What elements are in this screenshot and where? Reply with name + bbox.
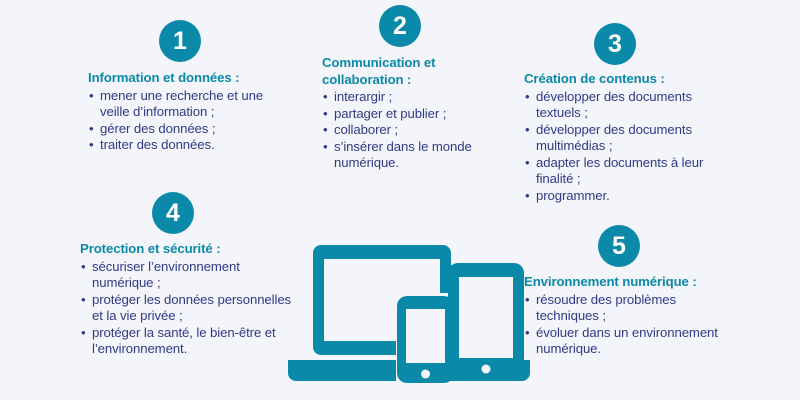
section-list-4: • sécuriser l’environnement numérique ; … [80,259,292,358]
list-item-label: sécuriser l’environnement numérique ; [92,259,240,291]
list-item-label: protéger les données personnelles et la … [92,292,291,324]
bullet-icon: • [525,155,530,172]
list-item-label: gérer des données ; [100,121,215,136]
tablet-icon [448,263,524,381]
list-item: • interargir ; [322,89,482,106]
list-item: • programmer. [524,188,729,205]
list-item: • gérer des données ; [88,121,268,138]
list-item-label: programmer. [536,188,610,203]
bullet-icon: • [323,139,328,156]
bullet-icon: • [81,292,86,309]
section-heading-2: Communication et collaboration : [322,55,482,88]
section-block-2: Communication et collaboration : • inter… [322,55,482,172]
section-badge-2: 2 [379,5,421,47]
digital-competences-infographic: 1 Information et données : • mener une r… [0,0,800,400]
section-block-1: Information et données : • mener une rec… [88,70,268,154]
list-item: • protéger la santé, le bien-être et l’e… [80,325,292,358]
section-heading-1: Information et données : [88,70,268,87]
bullet-icon: • [89,137,94,154]
list-item-label: développer des documents multimédias ; [536,122,692,154]
section-list-3: • développer des documents textuels ; • … [524,89,729,205]
list-item-label: s’insérer dans le monde numérique. [334,139,472,171]
section-badge-1: 1 [159,20,201,62]
bullet-icon: • [81,259,86,276]
list-item-label: développer des documents textuels ; [536,89,692,121]
section-block-3: Création de contenus : • développer des … [524,71,729,204]
list-item: • évoluer dans un environnement numériqu… [524,325,724,358]
list-item: • sécuriser l’environnement numérique ; [80,259,292,292]
list-item-label: adapter les documents à leur finalité ; [536,155,703,187]
section-heading-5: Environnement numérique : [524,274,724,291]
bullet-icon: • [89,121,94,138]
list-item: • résoudre des problèmes techniques ; [524,292,724,325]
list-item: • s’insérer dans le monde numérique. [322,139,482,172]
list-item: • adapter les documents à leur finalité … [524,155,729,188]
list-item-label: collaborer ; [334,122,398,137]
section-list-5: • résoudre des problèmes techniques ; • … [524,292,724,358]
list-item-label: protéger la santé, le bien-être et l’env… [92,325,276,357]
list-item-label: résoudre des problèmes techniques ; [536,292,676,324]
list-item-label: interargir ; [334,89,392,104]
section-block-5: Environnement numérique : • résoudre des… [524,274,724,358]
list-item-label: partager et publier ; [334,106,446,121]
bullet-icon: • [525,188,530,205]
list-item: • développer des documents multimédias ; [524,122,729,155]
devices-svg [280,238,530,390]
list-item: • collaborer ; [322,122,482,139]
list-item: • partager et publier ; [322,106,482,123]
list-item: • développer des documents textuels ; [524,89,729,122]
tablet-home-button-icon [482,365,491,374]
bullet-icon: • [323,89,328,106]
section-list-1: • mener une recherche et une veille d’in… [88,88,268,154]
section-heading-4: Protection et sécurité : [80,241,292,258]
bullet-icon: • [525,122,530,139]
section-block-4: Protection et sécurité : • sécuriser l’e… [80,241,292,358]
devices-illustration [280,238,530,390]
section-badge-5: 5 [598,225,640,267]
section-list-2: • interargir ; • partager et publier ; •… [322,89,482,172]
list-item-label: mener une recherche et une veille d’info… [100,88,263,120]
bullet-icon: • [323,122,328,139]
list-item-label: évoluer dans un environnement numérique. [536,325,718,357]
section-badge-4: 4 [152,192,194,234]
smartphone-home-button-icon [421,370,430,379]
bullet-icon: • [525,89,530,106]
laptop-base-right-foot-icon [516,360,530,381]
list-item: • protéger les données personnelles et l… [80,292,292,325]
bullet-icon: • [323,106,328,123]
section-heading-3: Création de contenus : [524,71,729,88]
list-item: • mener une recherche et une veille d’in… [88,88,268,121]
bullet-icon: • [81,325,86,342]
list-item: • traiter des données. [88,137,268,154]
bullet-icon: • [89,88,94,105]
section-badge-3: 3 [594,23,636,65]
list-item-label: traiter des données. [100,137,215,152]
